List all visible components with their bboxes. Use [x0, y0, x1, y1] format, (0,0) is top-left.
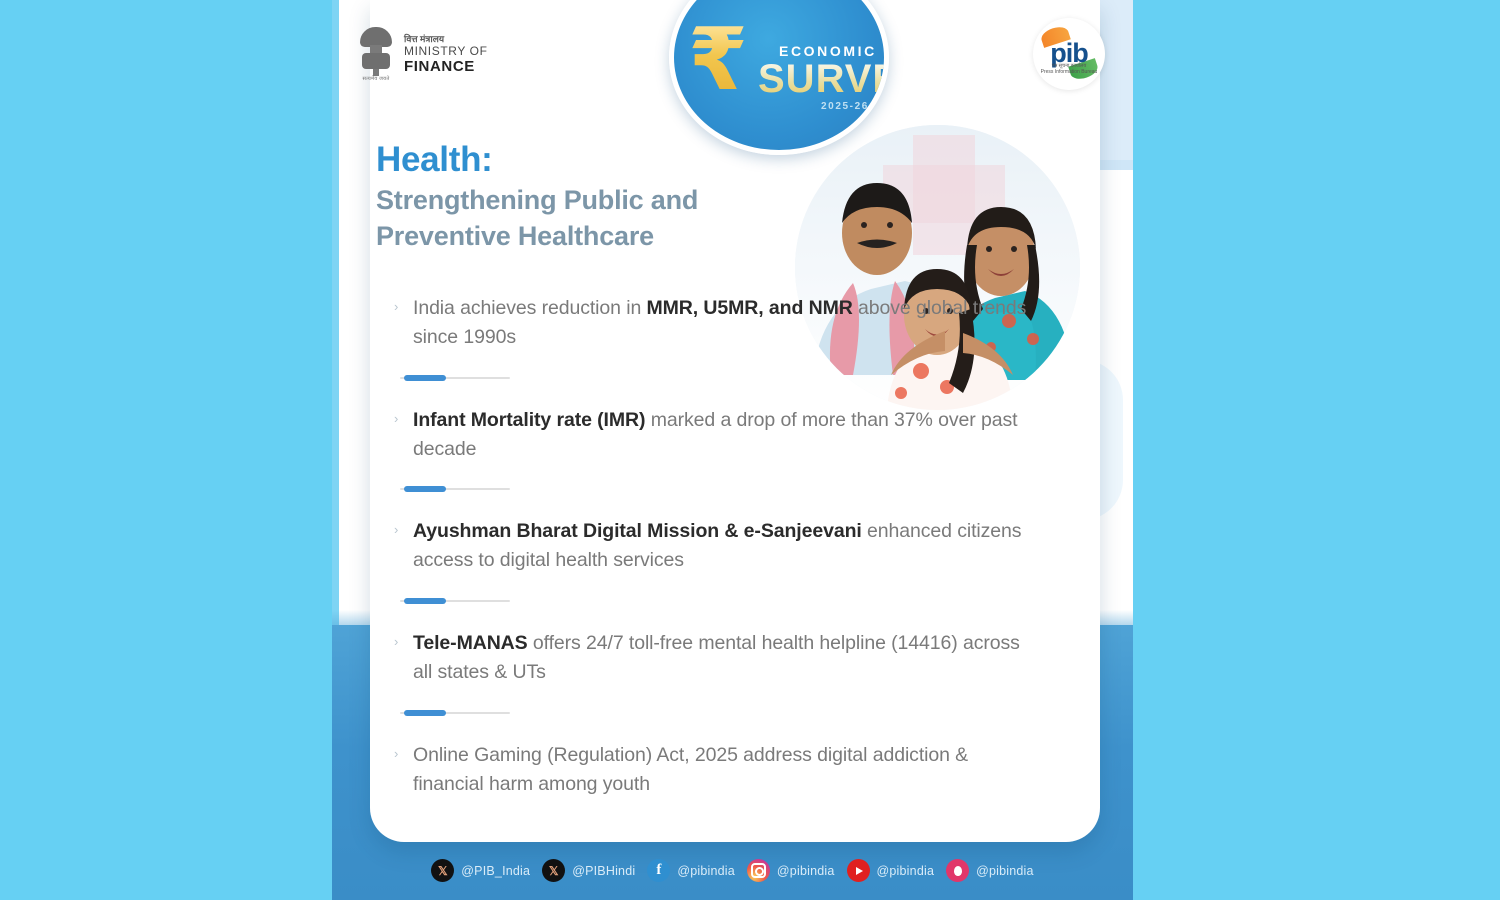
social-link-x-pibindia[interactable]: 𝕏 @PIB_India: [431, 859, 530, 882]
list-item: › Ayushman Bharat Digital Mission & e-Sa…: [394, 517, 1044, 575]
x-twitter-icon: 𝕏: [431, 859, 454, 882]
youtube-icon: [847, 859, 870, 882]
pib-logo: pib पत्र सूचना कार्यालय Press Informatio…: [1033, 18, 1105, 90]
list-item: › Online Gaming (Regulation) Act, 2025 a…: [394, 741, 1044, 799]
chevron-right-icon: ›: [394, 523, 402, 535]
chevron-right-icon: ›: [394, 412, 402, 424]
page-subtitle: Strengthening Public and Preventive Heal…: [376, 183, 796, 254]
section-divider: [400, 486, 510, 491]
koo-icon: [946, 859, 969, 882]
bullet-1-seg-1: MMR, U5MR, and NMR: [647, 297, 853, 319]
section-divider: [400, 710, 510, 715]
list-item: › Infant Mortality rate (IMR) marked a d…: [394, 406, 1044, 464]
bullet-text-4: Tele-MANAS offers 24/7 toll-free mental …: [413, 629, 1044, 687]
social-handle: @pibindia: [877, 864, 935, 878]
ministry-line-1: MINISTRY OF: [404, 45, 488, 59]
rupee-symbol-icon: ₹: [688, 17, 748, 103]
bullet-text-5: Online Gaming (Regulation) Act, 2025 add…: [413, 741, 1044, 799]
social-link-x-pibhindi[interactable]: 𝕏 @PIBHindi: [542, 859, 635, 882]
facebook-icon: f: [647, 859, 670, 882]
social-handle: @pibindia: [777, 864, 835, 878]
poster: सत्यमेव जयते वित्त मंत्रालय MINISTRY OF …: [332, 0, 1133, 900]
social-link-instagram[interactable]: @pibindia: [747, 859, 835, 882]
bullet-3-seg-0: Ayushman Bharat Digital Mission & e-Sanj…: [413, 520, 862, 542]
emblem-motto: सत्यमेव जयते: [357, 76, 395, 82]
poster-canvas: सत्यमेव जयते वित्त मंत्रालय MINISTRY OF …: [0, 0, 1500, 900]
section-divider: [400, 375, 510, 380]
social-handle: @pibindia: [677, 864, 735, 878]
social-handle: @pibindia: [976, 864, 1034, 878]
headline-block: Health: Strengthening Public and Prevent…: [376, 140, 796, 254]
bullet-5-seg-0: Online Gaming (Regulation) Act, 2025 add…: [413, 744, 968, 795]
bullet-4-seg-0: Tele-MANAS: [413, 632, 528, 654]
social-handle: @PIBHindi: [572, 864, 635, 878]
social-footer: 𝕏 @PIB_India 𝕏 @PIBHindi f @pibindia @pi…: [332, 859, 1133, 882]
social-link-koo[interactable]: @pibindia: [946, 859, 1034, 882]
bullet-2-seg-0: Infant Mortality rate (IMR): [413, 409, 645, 431]
x-twitter-icon: 𝕏: [542, 859, 565, 882]
pib-subtext-english: Press Information Bureau: [1033, 69, 1105, 75]
bullet-list: › India achieves reduction in MMR, U5MR,…: [394, 294, 1044, 803]
ashoka-emblem-icon: सत्यमेव जयते: [357, 25, 395, 85]
chevron-right-icon: ›: [394, 747, 402, 759]
list-item: › India achieves reduction in MMR, U5MR,…: [394, 294, 1044, 352]
survey-badge-year: 2025-26: [821, 101, 869, 112]
bullet-text-1: India achieves reduction in MMR, U5MR, a…: [413, 294, 1044, 352]
ministry-of-finance-logo: सत्यमेव जयते वित्त मंत्रालय MINISTRY OF …: [357, 25, 488, 85]
ministry-label: वित्त मंत्रालय MINISTRY OF FINANCE: [404, 34, 488, 75]
chevron-right-icon: ›: [394, 635, 402, 647]
bullet-1-seg-0: India achieves reduction in: [413, 297, 647, 319]
social-link-youtube[interactable]: @pibindia: [847, 859, 935, 882]
page-title: Health:: [376, 140, 796, 180]
chevron-right-icon: ›: [394, 300, 402, 312]
survey-badge-line-2: SURVEY: [758, 57, 889, 102]
section-divider: [400, 598, 510, 603]
social-link-facebook[interactable]: f @pibindia: [647, 859, 735, 882]
ministry-line-2: FINANCE: [404, 58, 488, 75]
bullet-text-3: Ayushman Bharat Digital Mission & e-Sanj…: [413, 517, 1044, 575]
instagram-icon: [747, 859, 770, 882]
social-handle: @PIB_India: [461, 864, 530, 878]
bullet-text-2: Infant Mortality rate (IMR) marked a dro…: [413, 406, 1044, 464]
pib-subtext: पत्र सूचना कार्यालय Press Information Bu…: [1033, 63, 1105, 76]
list-item: › Tele-MANAS offers 24/7 toll-free menta…: [394, 629, 1044, 687]
